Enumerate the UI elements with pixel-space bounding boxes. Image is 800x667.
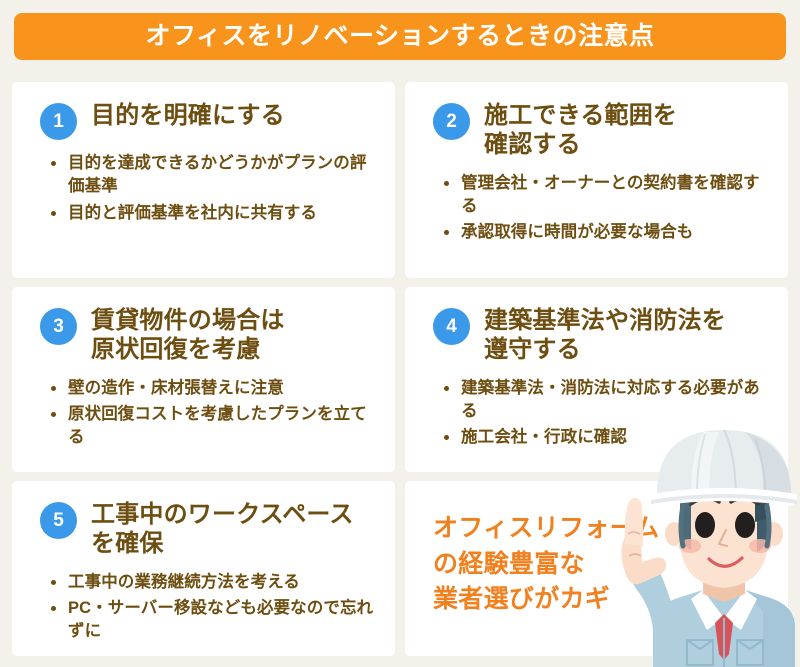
card-title-line2: 遵守する <box>484 335 726 364</box>
number-badge-4: 4 <box>433 308 470 345</box>
card-title-line1: 工事中のワークスペース <box>91 501 354 528</box>
number-badge-3: 3 <box>40 308 77 345</box>
page-title: オフィスをリノベーションするときの注意点 <box>145 24 654 49</box>
list-item: 建築基準法・消防法に対応する必要がある <box>443 377 774 424</box>
list-item: 目的を達成できるかどうかがプランの評価基準 <box>50 152 381 199</box>
card-title-line1: 賃貸物件の場合は <box>91 307 285 334</box>
card-title-1: 目的を明確にする <box>91 100 285 130</box>
bullet-list-5: 工事中の業務継続方法を考える PC・サーバー移設なども必要なので忘れずに <box>26 571 381 644</box>
bullet-list-2: 管理会社・オーナーとの契約書を確認する 承認取得に時間が必要な場合も <box>419 172 774 245</box>
header-banner: オフィスをリノベーションするときの注意点 <box>14 13 786 60</box>
card-header: 5 工事中のワークスペース を確保 <box>26 499 381 559</box>
bullet-list-3: 壁の造作・床材張替えに注意 原状回復コストを考慮したプランを立てる <box>26 377 381 450</box>
construction-worker-illustration <box>595 422 800 667</box>
card-title-line2: 確認する <box>484 130 677 159</box>
card-title-line1: 目的を明確にする <box>91 102 285 129</box>
list-item: 管理会社・オーナーとの契約書を確認する <box>443 172 774 219</box>
card-header: 3 賃貸物件の場合は 原状回復を考慮 <box>26 305 381 365</box>
tip-card-2: 2 施工できる範囲を 確認する 管理会社・オーナーとの契約書を確認する 承認取得… <box>405 82 788 278</box>
card-title-line1: 建築基準法や消防法を <box>484 307 726 334</box>
number-badge-2: 2 <box>433 103 470 140</box>
card-title-line2: 原状回復を考慮 <box>91 335 285 364</box>
worker-icon <box>595 422 800 667</box>
number-badge-5: 5 <box>40 502 77 539</box>
card-header: 1 目的を明確にする <box>26 100 381 140</box>
infographic-page: オフィスをリノベーションするときの注意点 1 目的を明確にする 目的を達成できる… <box>0 0 800 667</box>
card-title-line1: 施工できる範囲を <box>484 102 677 129</box>
tip-card-1: 1 目的を明確にする 目的を達成できるかどうかがプランの評価基準 目的と評価基準… <box>12 82 395 278</box>
bullet-list-1: 目的を達成できるかどうかがプランの評価基準 目的と評価基準を社内に共有する <box>26 152 381 225</box>
card-header: 2 施工できる範囲を 確認する <box>419 100 774 160</box>
list-item: 承認取得に時間が必要な場合も <box>443 221 774 244</box>
tip-card-5: 5 工事中のワークスペース を確保 工事中の業務継続方法を考える PC・サーバー… <box>12 481 395 656</box>
tip-card-3: 3 賃貸物件の場合は 原状回復を考慮 壁の造作・床材張替えに注意 原状回復コスト… <box>12 287 395 472</box>
card-title-2: 施工できる範囲を 確認する <box>484 100 677 160</box>
number-badge-1: 1 <box>40 103 77 140</box>
list-item: 壁の造作・床材張替えに注意 <box>50 377 381 400</box>
card-title-4: 建築基準法や消防法を 遵守する <box>484 305 726 365</box>
card-title-5: 工事中のワークスペース を確保 <box>91 499 354 559</box>
card-title-line2: を確保 <box>91 529 354 558</box>
list-item: 工事中の業務継続方法を考える <box>50 571 381 594</box>
list-item: 目的と評価基準を社内に共有する <box>50 202 381 225</box>
list-item: 原状回復コストを考慮したプランを立てる <box>50 403 381 450</box>
card-header: 4 建築基準法や消防法を 遵守する <box>419 305 774 365</box>
card-title-3: 賃貸物件の場合は 原状回復を考慮 <box>91 305 285 365</box>
list-item: PC・サーバー移設なども必要なので忘れずに <box>50 597 381 644</box>
